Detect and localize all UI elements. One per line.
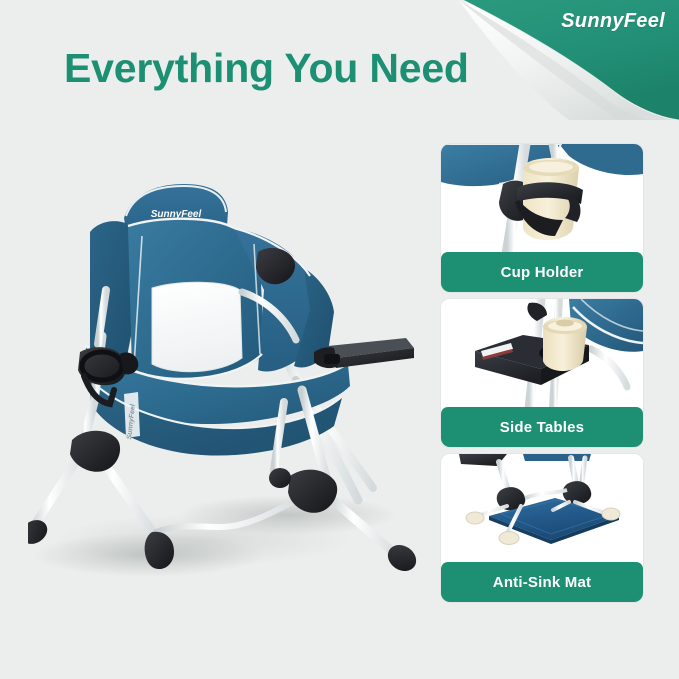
- camping-chair-illustration: SunnyFeel: [28, 140, 428, 610]
- cup-holder-photo: [441, 144, 643, 254]
- page-title: Everything You Need: [64, 45, 469, 92]
- feature-label-side-tables: Side Tables: [500, 419, 584, 436]
- anti-sink-mat-icon: [441, 454, 643, 564]
- brand-logo: SunnyFeel: [561, 10, 665, 33]
- side-table-icon: [441, 299, 643, 409]
- side-tables-photo: [441, 299, 643, 409]
- feature-label-banner-anti-sink-mat: Anti-Sink Mat: [441, 562, 643, 602]
- feature-label-anti-sink-mat: Anti-Sink Mat: [493, 574, 591, 591]
- feature-card-list: Cup Holder: [441, 144, 643, 609]
- infographic-page: SunnyFeel Everything You Need: [0, 0, 679, 679]
- anti-sink-mat-photo: [441, 454, 643, 564]
- cup-holder-icon: [441, 144, 643, 254]
- feature-label-cup-holder: Cup Holder: [501, 264, 584, 281]
- product-image: SunnyFeel: [28, 140, 428, 610]
- feature-card-side-tables[interactable]: Side Tables: [441, 299, 643, 447]
- feature-card-anti-sink-mat[interactable]: Anti-Sink Mat: [441, 454, 643, 602]
- feature-card-cup-holder[interactable]: Cup Holder: [441, 144, 643, 292]
- cup-glyph: [543, 317, 587, 371]
- feature-label-banner-cup-holder: Cup Holder: [441, 252, 643, 292]
- feature-label-banner-side-tables: Side Tables: [441, 407, 643, 447]
